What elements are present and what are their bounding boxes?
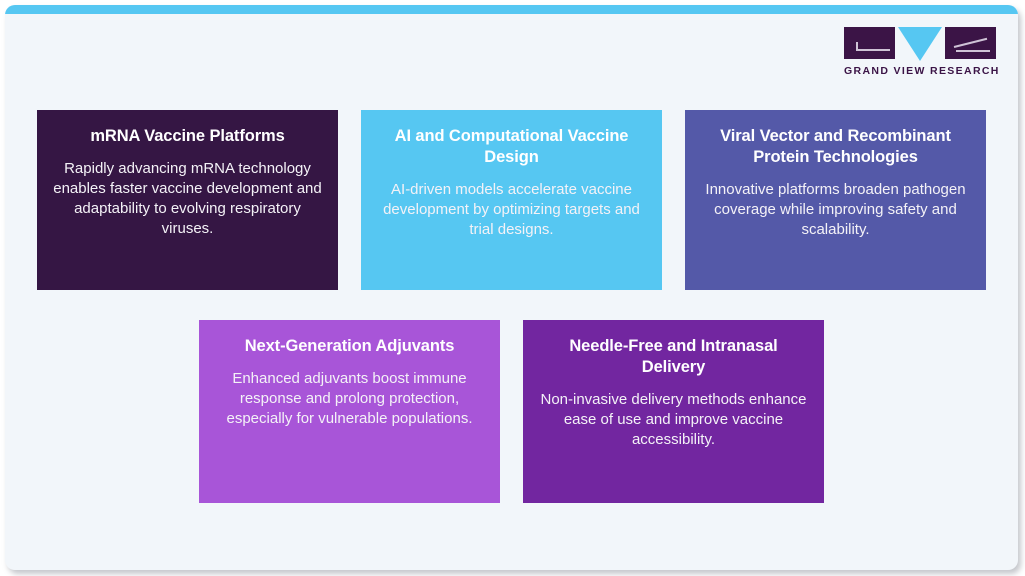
logo-wordmark: GRAND VIEW RESEARCH	[844, 65, 996, 77]
top-accent-bar	[5, 5, 1018, 14]
logo-corner-mark-icon	[856, 42, 890, 51]
card-title: mRNA Vaccine Platforms	[90, 126, 284, 147]
card-description: Innovative platforms broaden pathogen co…	[699, 180, 972, 240]
card-description: Rapidly advancing mRNA technology enable…	[51, 159, 324, 239]
card-next-generation-adjuvants: Next-Generation Adjuvants Enhanced adjuv…	[199, 320, 500, 503]
logo-right-block-icon	[945, 27, 996, 59]
card-viral-vector-recombinant-protein: Viral Vector and Recombinant Protein Tec…	[685, 110, 986, 290]
card-title: AI and Computational Vaccine Design	[375, 126, 648, 168]
card-title: Next-Generation Adjuvants	[245, 336, 455, 357]
card-mrna-vaccine-platforms: mRNA Vaccine Platforms Rapidly advancing…	[37, 110, 338, 290]
logo-marks	[844, 27, 996, 59]
card-ai-computational-vaccine-design: AI and Computational Vaccine Design AI-d…	[361, 110, 662, 290]
infographic-canvas: GRAND VIEW RESEARCH mRNA Vaccine Platfor…	[0, 0, 1025, 576]
card-description: Non-invasive delivery methods enhance ea…	[537, 390, 810, 450]
logo-slash-mark-icon	[952, 40, 990, 51]
cards-row-top: mRNA Vaccine Platforms Rapidly advancing…	[5, 110, 1018, 290]
brand-logo: GRAND VIEW RESEARCH	[844, 27, 996, 77]
card-title: Needle-Free and Intranasal Delivery	[537, 336, 810, 378]
cards-row-bottom: Next-Generation Adjuvants Enhanced adjuv…	[5, 320, 1018, 503]
card-title: Viral Vector and Recombinant Protein Tec…	[699, 126, 972, 168]
logo-triangle-icon	[898, 27, 942, 61]
card-description: AI-driven models accelerate vaccine deve…	[375, 180, 648, 240]
card-needle-free-intranasal-delivery: Needle-Free and Intranasal Delivery Non-…	[523, 320, 824, 503]
card-description: Enhanced adjuvants boost immune response…	[213, 369, 486, 429]
logo-left-block-icon	[844, 27, 895, 59]
content-panel: GRAND VIEW RESEARCH mRNA Vaccine Platfor…	[5, 5, 1018, 570]
cards-container: mRNA Vaccine Platforms Rapidly advancing…	[5, 110, 1018, 503]
